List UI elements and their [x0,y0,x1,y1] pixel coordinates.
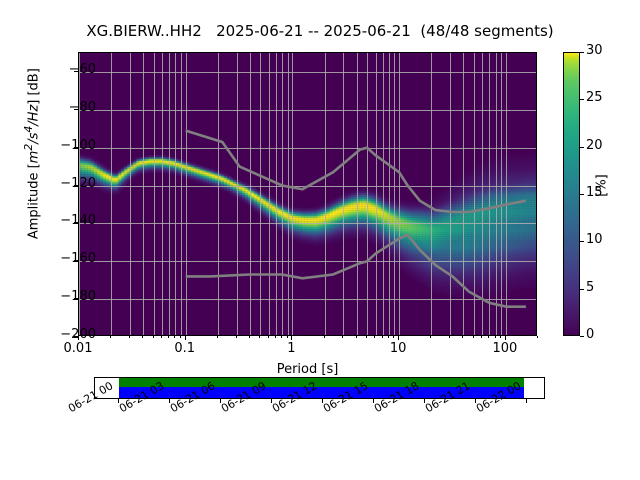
x-axis-tick-label: 1 [261,341,321,356]
x-axis-tick-mark [374,336,375,338]
y-axis-tick-mark [74,185,78,186]
x-axis-tick-mark [259,336,260,338]
noise-model-layer [79,53,536,335]
timeline-tick-mark [526,399,527,403]
x-axis-tick-mark [393,336,394,338]
y-axis-tick-label: −200 [36,327,96,342]
x-axis-tick-mark [291,336,292,340]
x-axis-tick-mark [142,336,143,338]
x-axis-tick-mark [236,336,237,338]
y-axis-tick-mark [74,260,78,261]
ppsd-figure: XG.BIERW..HH2 2025-06-21 -- 2025-06-21 (… [0,0,640,480]
y-axis-tick-label: −100 [36,138,96,153]
y-axis-tick-label: −160 [36,251,96,266]
colorbar-tick-mark [580,99,584,100]
x-axis-tick-mark [324,336,325,338]
page-title: XG.BIERW..HH2 2025-06-21 -- 2025-06-21 (… [0,22,640,40]
x-axis-tick-mark [161,336,162,338]
x-axis-tick-label: 10 [368,341,428,356]
colorbar-tick-label: 30 [586,43,626,58]
x-axis-tick-mark [78,336,79,340]
colorbar-tick-label: 0 [586,327,626,342]
noise-model-svg [79,53,537,336]
x-axis-tick-mark [495,336,496,338]
nlnm-curve [186,235,526,307]
colorbar-tick-label: 20 [586,138,626,153]
x-axis-tick-mark [249,336,250,338]
x-axis-tick-mark [500,336,501,338]
x-axis-tick-mark [449,336,450,338]
x-axis-tick-mark [287,336,288,338]
y-axis-tick-mark [74,147,78,148]
y-axis-tick-label: −180 [36,289,96,304]
y-axis-tick-label: −140 [36,213,96,228]
x-axis-tick-mark [388,336,389,338]
colorbar-tick-mark [580,147,584,148]
ppsd-plot-area[interactable] [78,52,537,336]
colorbar-tick-mark [580,194,584,195]
x-axis-tick-mark [268,336,269,338]
y-axis-tick-label: −60 [36,62,96,77]
x-axis-tick-mark [430,336,431,338]
x-axis-tick-label: 100 [475,341,535,356]
colorbar-tick-label: 5 [586,280,626,295]
x-axis-tick-mark [129,336,130,338]
colorbar-tick-mark [580,289,584,290]
colorbar-tick-mark [580,336,584,337]
y-axis-tick-label: −120 [36,176,96,191]
y-axis-tick-mark [74,298,78,299]
y-axis-tick-mark [74,71,78,72]
x-axis-tick-label: 0.01 [48,341,108,356]
x-axis-tick-mark [481,336,482,338]
y-axis-tick-label: −80 [36,100,96,115]
x-axis-tick-mark [488,336,489,338]
x-axis-tick-mark [382,336,383,338]
y-axis-tick-mark [74,109,78,110]
x-axis-tick-mark [398,336,399,340]
x-axis-tick-mark [275,336,276,338]
x-axis-tick-mark [174,336,175,338]
x-axis-tick-mark [537,336,538,338]
x-axis-tick-label: 0.1 [155,341,215,356]
y-axis-tick-mark [74,222,78,223]
x-axis-tick-mark [180,336,181,338]
x-axis-tick-mark [153,336,154,338]
x-axis-label: Period [s] [78,362,537,377]
x-axis-tick-mark [473,336,474,338]
x-axis-tick-mark [185,336,186,340]
x-axis-tick-mark [110,336,111,338]
x-axis-tick-mark [356,336,357,338]
x-axis-tick-mark [168,336,169,338]
colorbar-label: [%] [595,156,610,216]
nhnm-curve [186,131,526,212]
x-axis-tick-mark [342,336,343,338]
x-axis-tick-mark [366,336,367,338]
colorbar-tick-label: 25 [586,90,626,105]
x-axis-tick-mark [217,336,218,338]
x-axis-tick-mark [505,336,506,340]
colorbar-tick-mark [580,52,584,53]
x-axis-tick-mark [462,336,463,338]
colorbar[interactable] [563,52,580,336]
x-axis-tick-mark [281,336,282,338]
colorbar-tick-mark [580,241,584,242]
colorbar-tick-label: 10 [586,232,626,247]
